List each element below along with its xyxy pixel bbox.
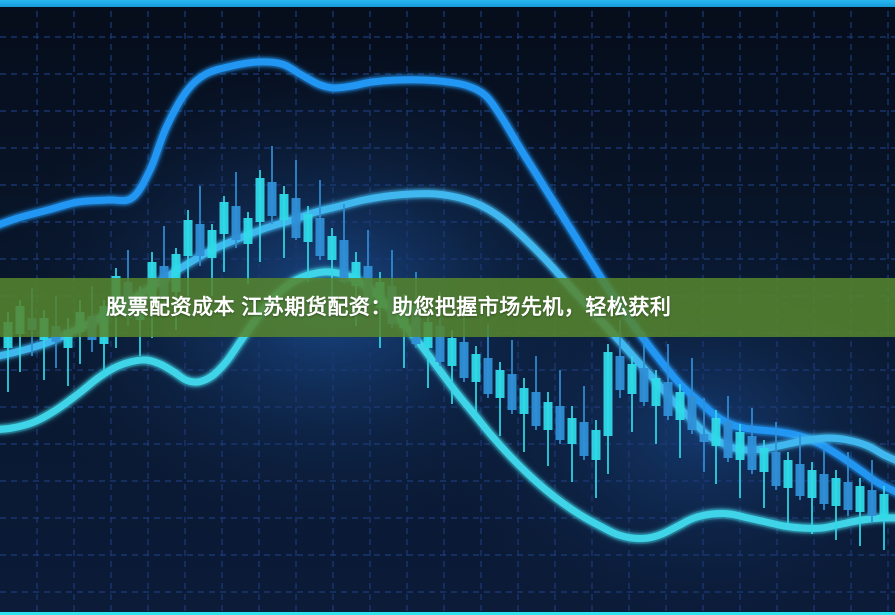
promo-banner: 股票配资成本 江苏期货配资：助您把握市场先机，轻松获利 bbox=[0, 278, 895, 337]
chart-banner-image: 股票配资成本 江苏期货配资：助您把握市场先机，轻松获利 bbox=[0, 0, 895, 615]
banner-title: 股票配资成本 江苏期货配资：助您把握市场先机，轻松获利 bbox=[0, 297, 671, 318]
top-accent-rule bbox=[0, 0, 895, 7]
